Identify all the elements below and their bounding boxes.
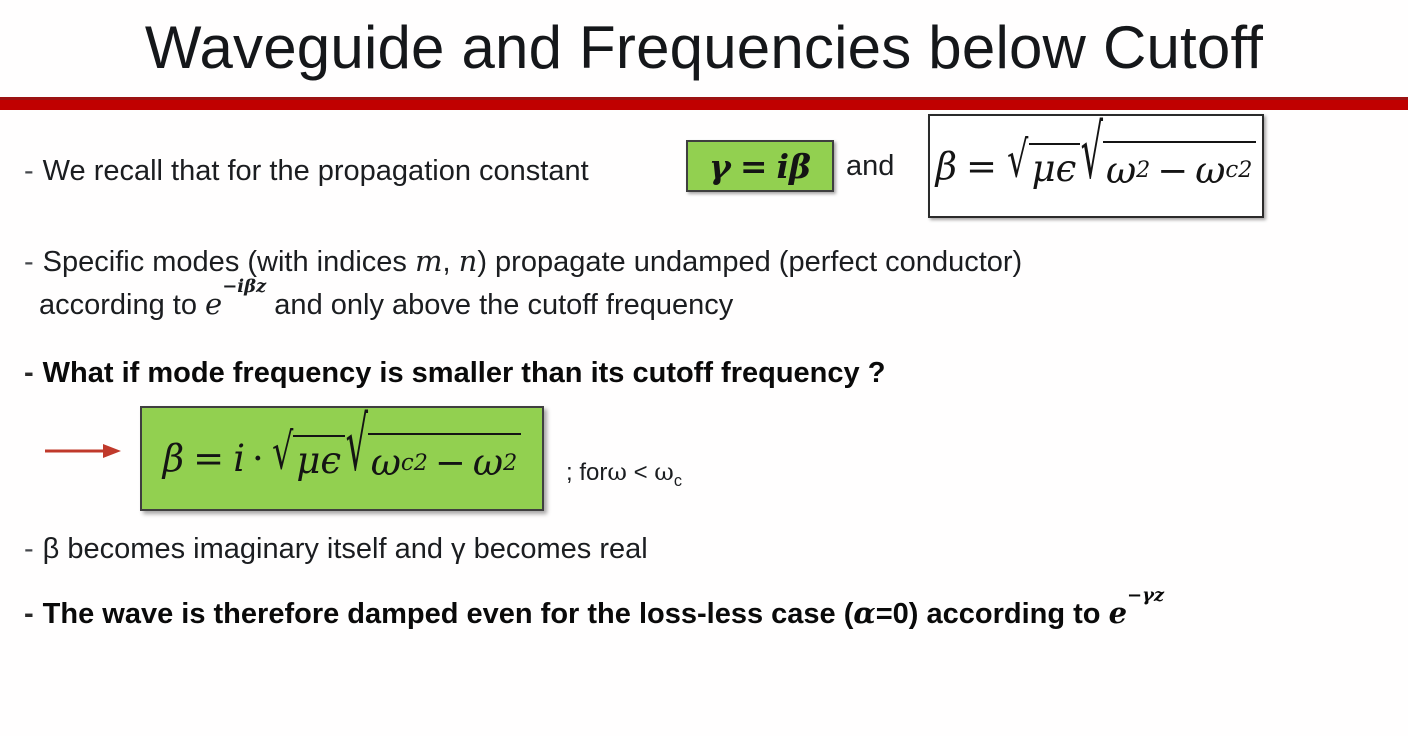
condition-prefix: ; for — [566, 459, 607, 486]
bullet-dash: - — [24, 352, 34, 394]
omega-c-exponent: 2 — [414, 450, 428, 476]
bullet-2-line2-end: and only above the cutoff frequency — [266, 289, 733, 321]
red-arrow-icon — [45, 442, 121, 460]
omega-c-subscript: c — [1225, 157, 1238, 183]
radical-icon: √ — [1007, 134, 1028, 197]
bullet-4-text: β becomes imaginary itself and γ becomes… — [43, 533, 648, 565]
omega-c-subscript: c — [401, 450, 414, 476]
equals-sign: = — [193, 437, 224, 480]
omega-symbol: ω — [1106, 149, 1136, 192]
exp-superscript: −iβz — [222, 276, 266, 297]
equation-beta-cutoff-content: β = i · √μϵ √ ωc2 − ω2 — [163, 433, 521, 484]
red-arrow-svg — [45, 442, 121, 460]
radical-icon: √ — [272, 427, 293, 490]
omega-symbol: ω — [607, 458, 627, 486]
bullet-item-5: -The wave is therefore damped even for t… — [24, 592, 1164, 635]
title-divider-rule — [0, 97, 1408, 110]
less-than-sign: < — [627, 459, 654, 486]
bullet-2-line2-start: according to — [39, 289, 205, 321]
alpha-symbol: α — [853, 596, 875, 630]
beta-symbol: β — [163, 437, 184, 480]
multiplication-dot: · — [252, 437, 264, 480]
index-separator: , — [443, 246, 459, 278]
radicand-omega-terms: ω2 − ωc2 — [1103, 141, 1256, 192]
radicand-omega-terms: ωc2 − ω2 — [368, 433, 521, 484]
bullet-2-line1-end: ) propagate undamped (perfect conductor) — [477, 246, 1022, 278]
i-beta-term: iβ — [777, 147, 811, 186]
slide-canvas: Waveguide and Frequencies below Cutoff -… — [0, 0, 1408, 736]
and-connector-label: and — [846, 150, 894, 183]
equation-beta-content: β = √μϵ √ ω2 − ωc2 — [936, 141, 1257, 192]
bullet-5-text-start: The wave is therefore damped even for th… — [43, 598, 854, 630]
omega-c-subscript: c — [674, 472, 682, 490]
bullet-5-text-mid: =0) according to — [876, 598, 1109, 630]
exp-superscript: −γz — [1127, 585, 1164, 606]
gamma-symbol: γ — [709, 147, 731, 186]
radicand-mu-epsilon: μϵ — [1029, 143, 1081, 190]
omega-c-exponent: 2 — [1238, 157, 1252, 183]
radicand-mu-epsilon: μϵ — [293, 435, 345, 482]
omega-c-symbol: ω — [1195, 149, 1225, 192]
bullet-item-1: -We recall that for the propagation cons… — [24, 150, 589, 192]
bullet-dash: - — [24, 241, 34, 283]
bullet-dash: - — [24, 150, 34, 192]
equals-sign: = — [740, 147, 768, 186]
omega-exponent: 2 — [503, 450, 517, 476]
sqrt-mu-epsilon: √μϵ — [271, 435, 345, 482]
bullet-1-text: We recall that for the propagation const… — [43, 155, 589, 187]
radical-icon: √ — [346, 408, 368, 510]
bullet-2-line1-start: Specific modes (with indices — [43, 246, 415, 278]
index-m: m — [415, 244, 443, 278]
beta-symbol: β — [936, 145, 957, 188]
title-zone: Waveguide and Frequencies below Cutoff — [0, 0, 1408, 96]
exponential-e-minus-i-beta-z: e−iβz — [205, 283, 266, 325]
bullet-item-4: -β becomes imaginary itself and γ become… — [24, 528, 648, 570]
bullet-2-line2: according to e−iβz and only above the cu… — [39, 283, 1022, 326]
exp-base: e — [205, 287, 222, 321]
minus-sign: − — [435, 441, 466, 484]
minus-sign: − — [1157, 149, 1188, 192]
radical-icon: √ — [1081, 115, 1103, 217]
bullet-3-text: What if mode frequency is smaller than i… — [43, 357, 886, 389]
bullet-item-2: -Specific modes (with indices m, n) prop… — [24, 240, 1022, 326]
omega-exponent: 2 — [1136, 157, 1150, 183]
omega-symbol: ω — [473, 441, 503, 484]
omega-c-symbol: ω — [654, 458, 674, 486]
equation-box-gamma: γ = iβ — [686, 140, 834, 192]
bullet-dash: - — [24, 593, 34, 635]
equals-sign: = — [966, 145, 997, 188]
equation-box-beta: β = √μϵ √ ω2 − ωc2 — [928, 114, 1264, 218]
index-n: n — [459, 244, 478, 278]
bullet-item-3: -What if mode frequency is smaller than … — [24, 352, 885, 394]
equation-gamma-content: γ = iβ — [709, 147, 811, 186]
exp-base: e — [1109, 596, 1127, 630]
equation-box-beta-below-cutoff: β = i · √μϵ √ ωc2 − ω2 — [140, 406, 544, 511]
page-title: Waveguide and Frequencies below Cutoff — [145, 18, 1263, 78]
omega-c-symbol: ω — [371, 441, 401, 484]
bullet-dash: - — [24, 528, 34, 570]
sqrt-mu-epsilon: √μϵ — [1006, 143, 1080, 190]
exponential-e-minus-gamma-z: e−γz — [1109, 592, 1165, 634]
imaginary-unit: i — [233, 437, 245, 480]
sqrt-omega-difference: √ ωc2 − ω2 — [345, 433, 521, 484]
sqrt-omega-difference: √ ω2 − ωc2 — [1080, 141, 1256, 192]
condition-label: ; forω < ωc — [566, 458, 682, 491]
